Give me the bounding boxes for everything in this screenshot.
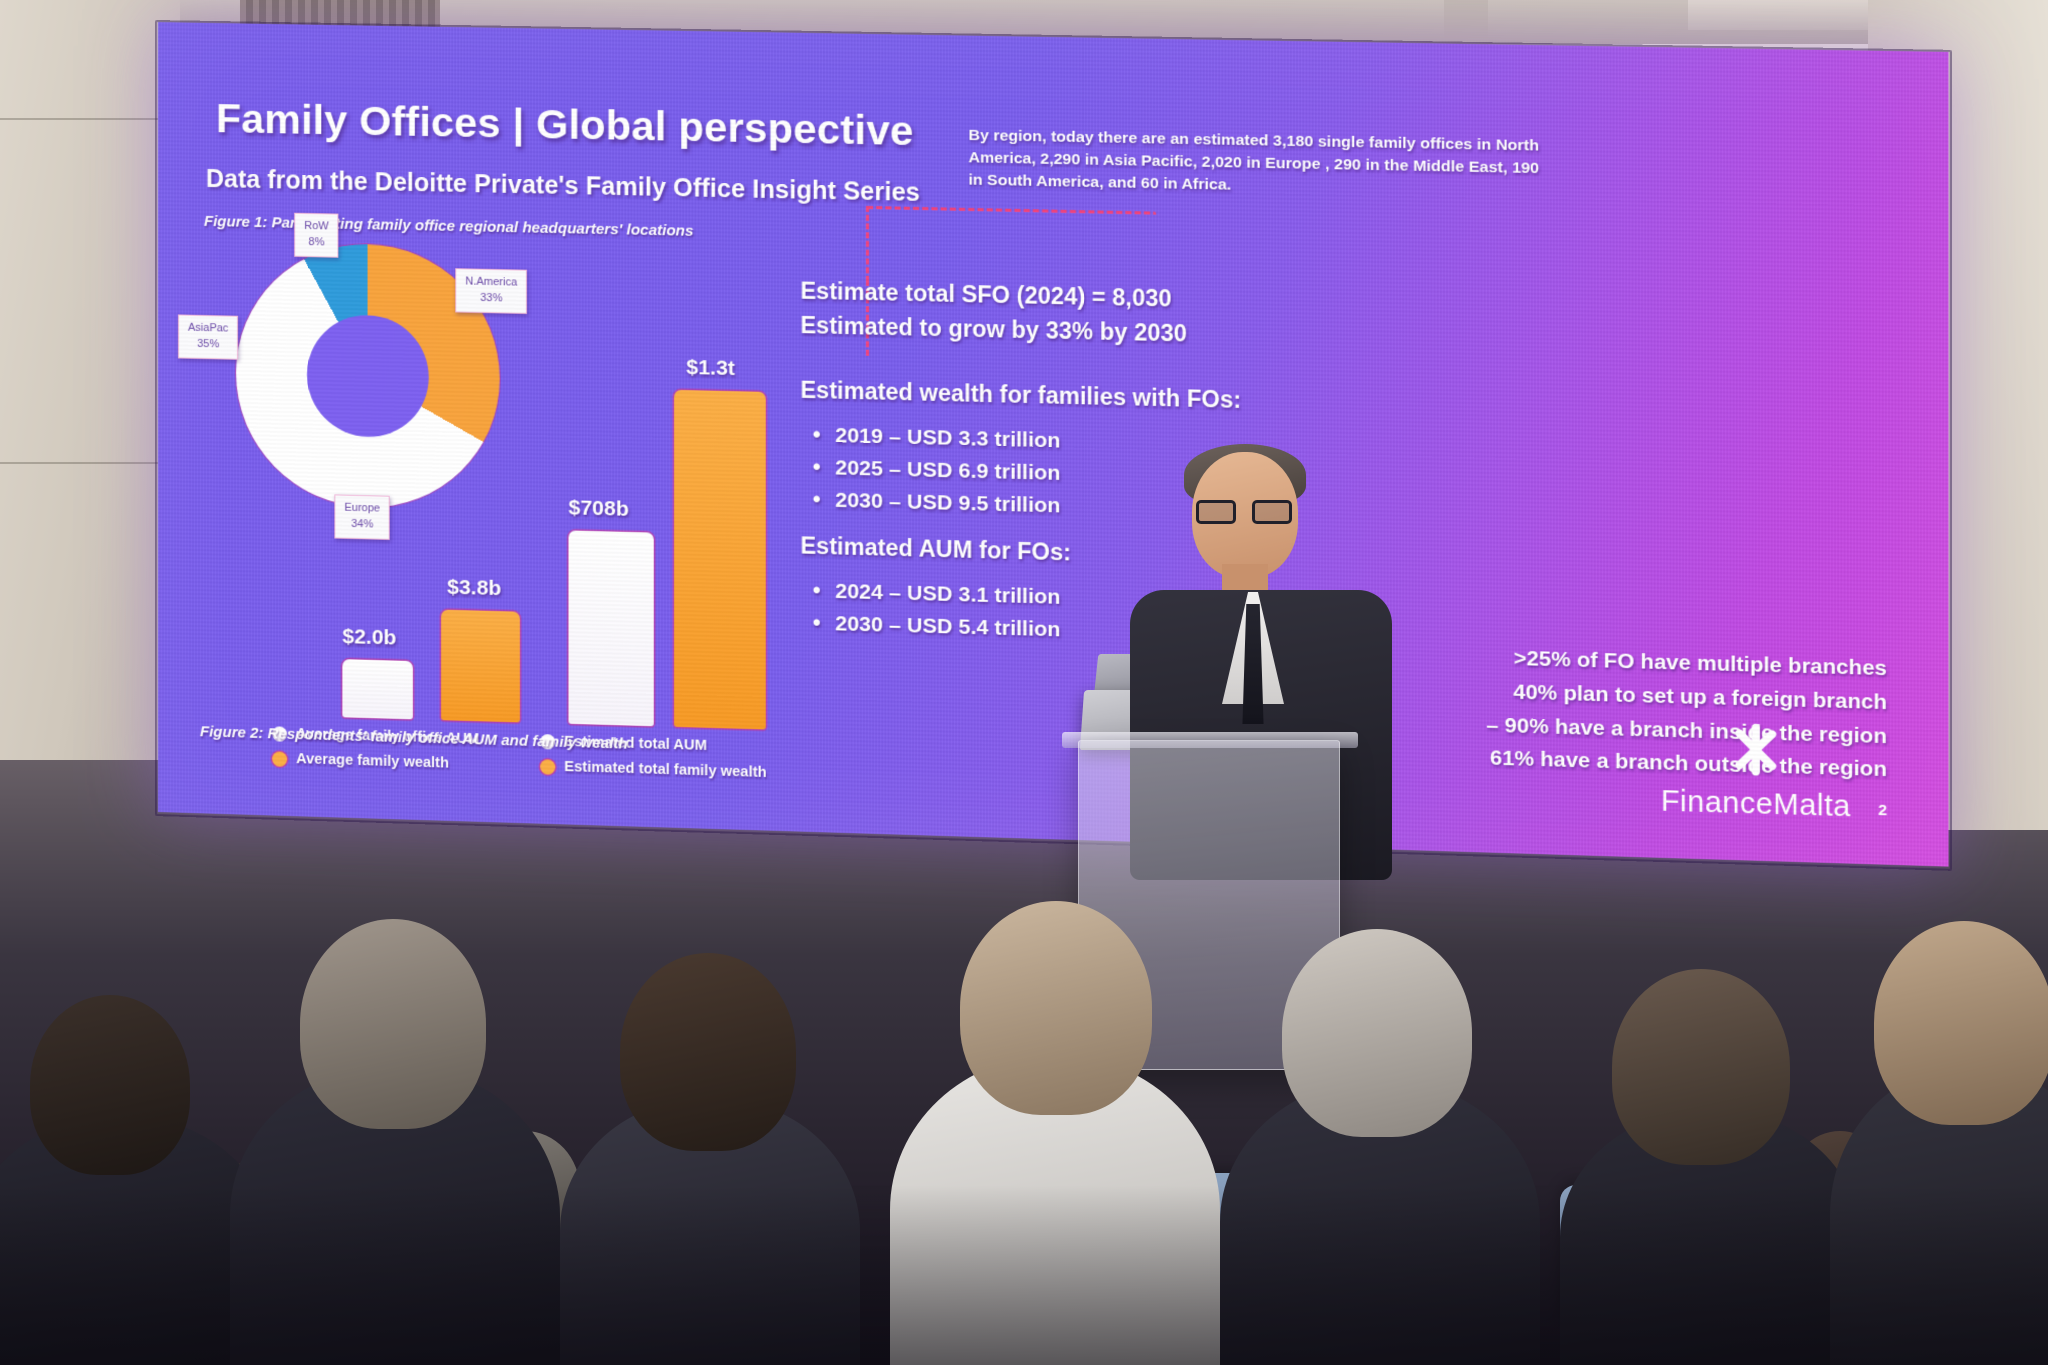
audience-head xyxy=(300,919,486,1129)
bar-chart: $2.0b $3.8b $708b $1.3t xyxy=(270,324,786,730)
bar-label-avg-fo-aum: $2.0b xyxy=(342,625,396,651)
projection-screen: Family Offices | Global perspective Data… xyxy=(158,22,1949,867)
audience-head xyxy=(1874,921,2048,1125)
list-item: 2030 – USD 9.5 trillion xyxy=(800,484,1060,523)
bar-label-total-aum: $708b xyxy=(569,496,629,522)
bar-label-total-family-wealth: $1.3t xyxy=(686,356,735,381)
audience-head xyxy=(960,901,1152,1115)
legend-item: Average family wealth xyxy=(272,750,479,772)
slide-subtitle: Data from the Deloitte Private's Family … xyxy=(206,165,920,208)
foreground-shadow xyxy=(0,1185,2048,1365)
audience-head xyxy=(1282,929,1472,1137)
list-item: 2030 – USD 5.4 trillion xyxy=(800,607,1060,647)
slide: Family Offices | Global perspective Data… xyxy=(158,22,1949,867)
audience-head xyxy=(1612,969,1790,1165)
financemalta-mark-icon xyxy=(1725,719,1786,780)
figure1-caption: Figure 1: Participating family office re… xyxy=(204,213,694,240)
bar-total-family-wealth xyxy=(674,390,766,730)
legend-label: Estimated total family wealth xyxy=(564,759,766,781)
bar-avg-fo-aum xyxy=(342,659,412,719)
bar-total-aum xyxy=(569,530,654,726)
legend-item: Estimated total family wealth xyxy=(540,758,767,781)
aum-list: 2024 – USD 3.1 trillion 2030 – USD 5.4 t… xyxy=(800,575,1060,647)
donut-label-asiapac: AsiaPac 35% xyxy=(178,314,238,359)
audience-head xyxy=(30,995,190,1175)
aum-heading: Estimated AUM for FOs: xyxy=(800,532,1071,566)
legend-dot-orange-icon xyxy=(272,751,287,766)
region-callout-text: By region, today there are an estimated … xyxy=(968,125,1539,203)
page-title: Family Offices | Global perspective xyxy=(216,95,913,155)
presentation-scene: Family Offices | Global perspective Data… xyxy=(0,0,2048,1365)
wealth-list: 2019 – USD 3.3 trillion 2025 – USD 6.9 t… xyxy=(800,419,1060,523)
donut-label-row: RoW 8% xyxy=(294,213,339,258)
sfo-total-stat: Estimate total SFO (2024) = 8,030 Estima… xyxy=(800,273,1186,350)
donut-label-namerica: N.America 33% xyxy=(455,268,527,314)
audience-head xyxy=(620,953,796,1151)
legend-dot-orange-icon xyxy=(540,759,555,775)
sfo-total-line2: Estimated to grow by 33% by 2030 xyxy=(800,308,1186,351)
wealth-heading: Estimated wealth for families with FOs: xyxy=(800,377,1241,414)
bar-label-avg-family-wealth: $3.8b xyxy=(447,576,501,602)
bar-avg-family-wealth xyxy=(441,610,520,723)
speaker-glasses-icon xyxy=(1196,500,1292,524)
legend-label: Average family wealth xyxy=(296,751,449,772)
